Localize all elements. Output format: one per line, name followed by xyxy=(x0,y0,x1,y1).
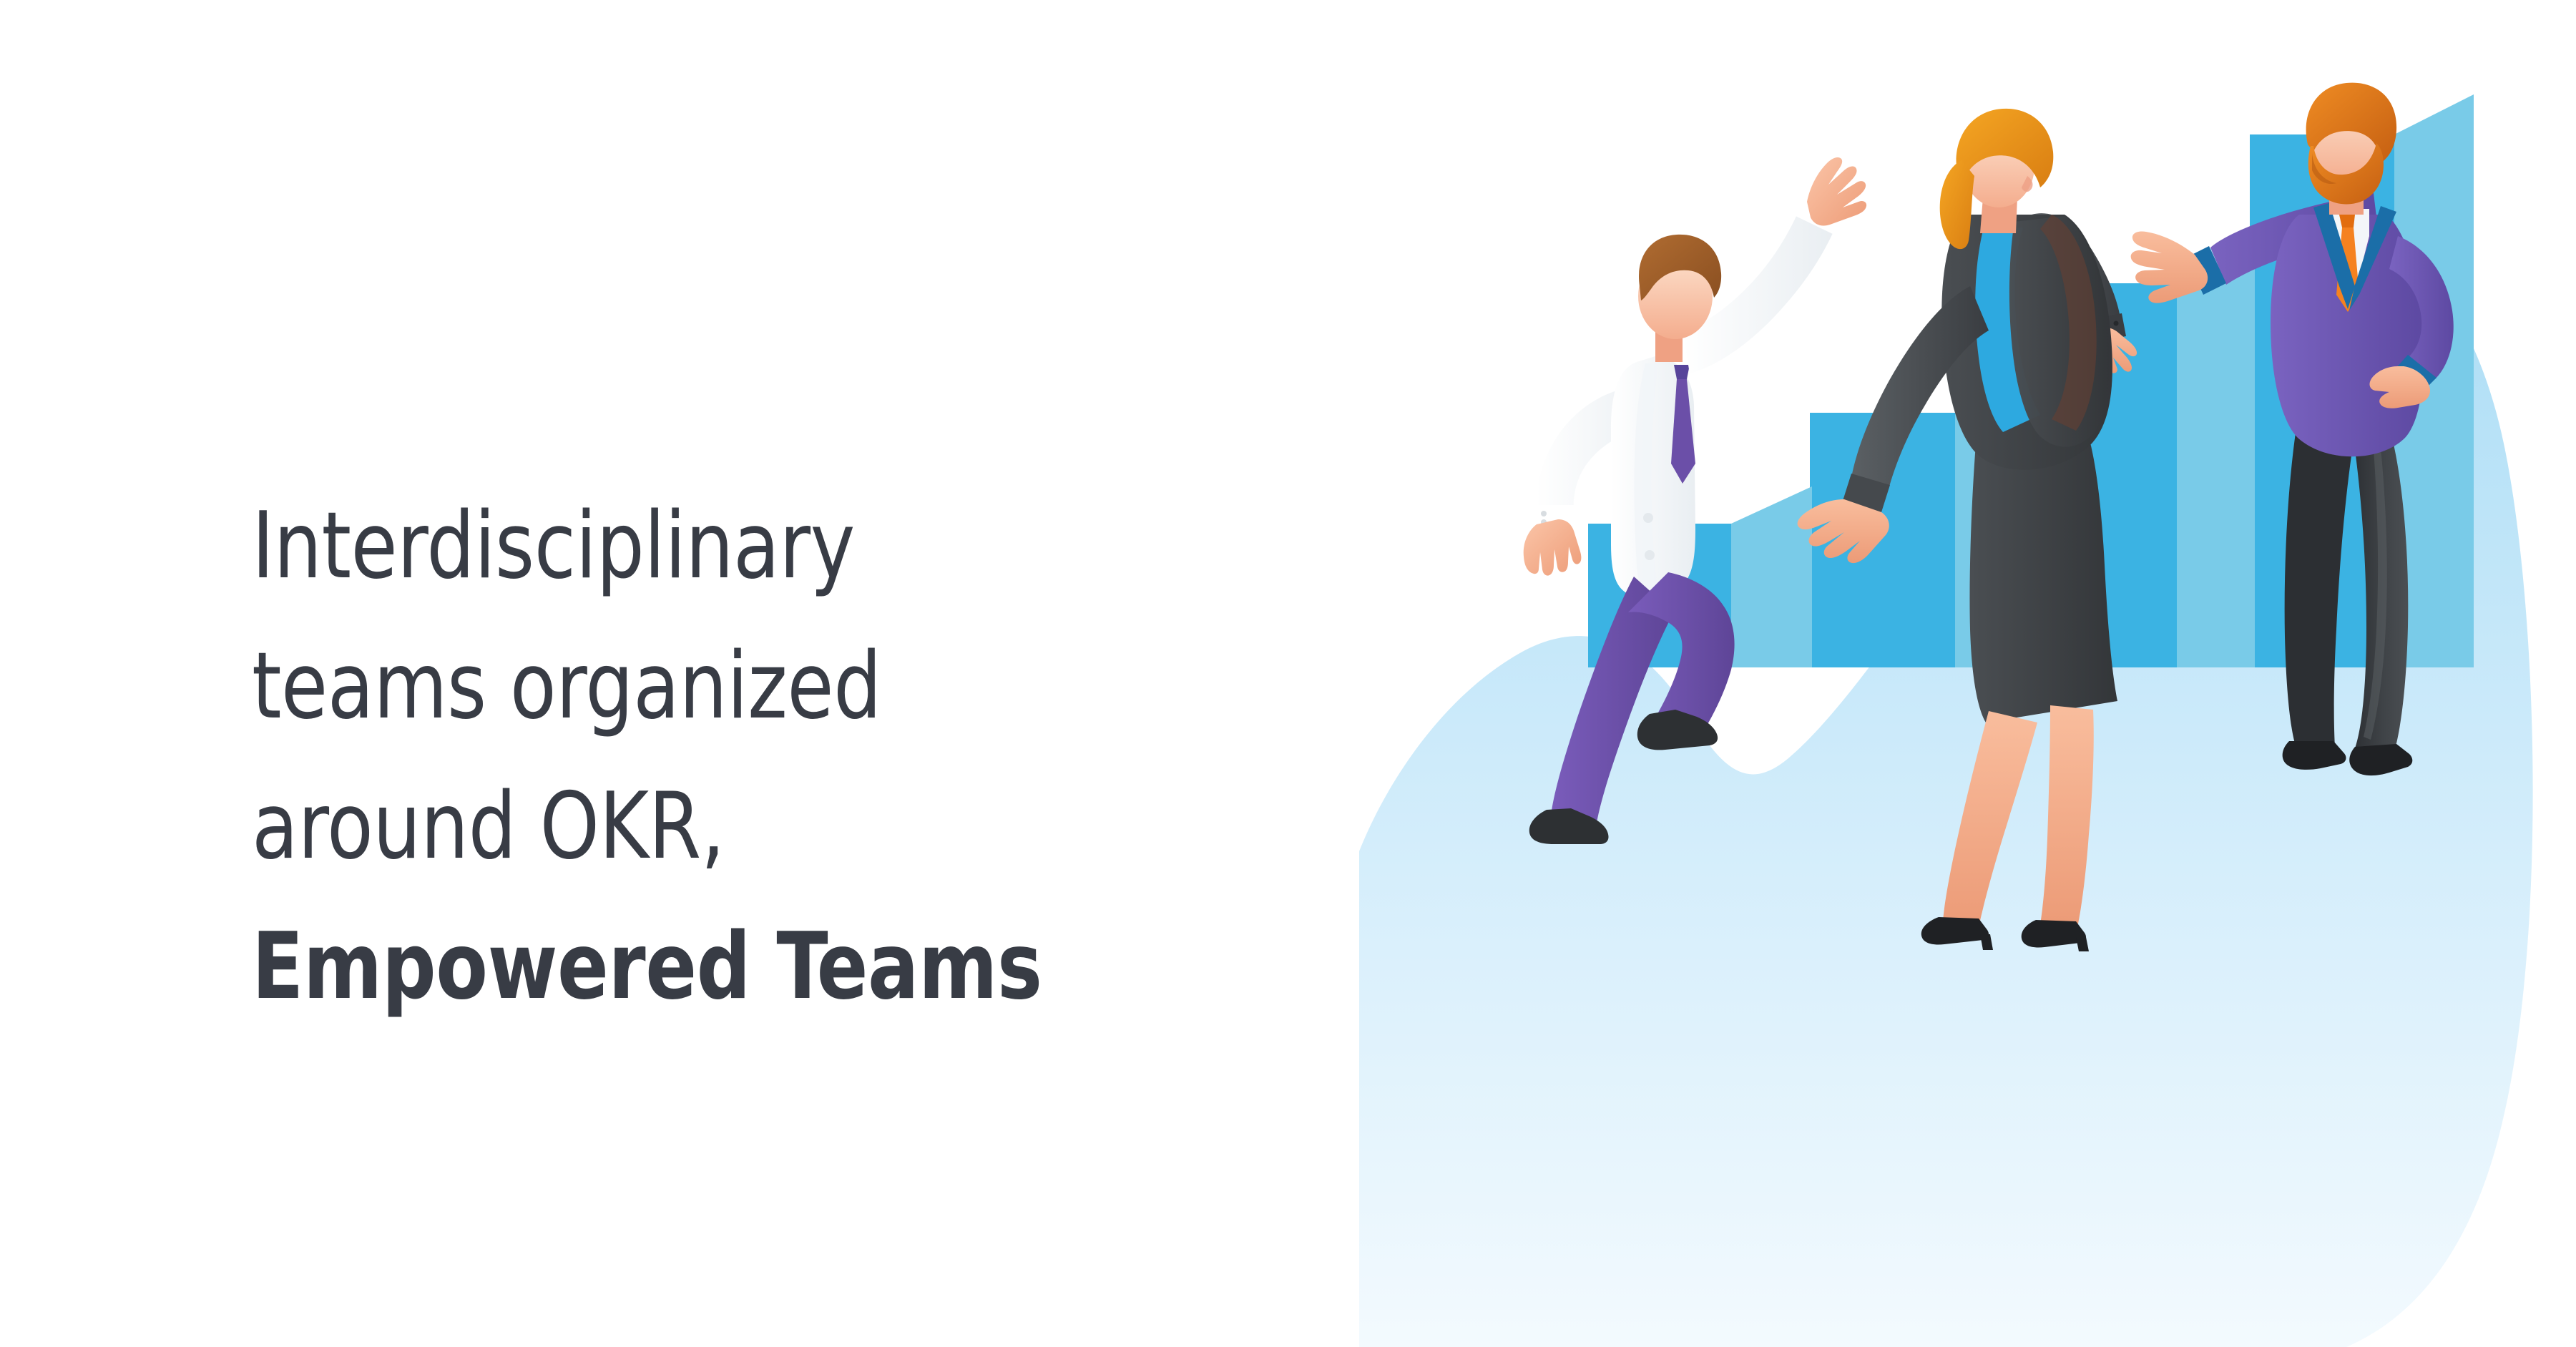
team-climbing-bar-chart-illustration xyxy=(1359,0,2576,1347)
headline-line-2: teams organized xyxy=(252,641,1371,733)
woman-skirt xyxy=(1969,432,2117,723)
page-title: Interdisciplinary teams organized around… xyxy=(252,501,1468,1013)
headline-line-1: Interdisciplinary xyxy=(252,501,1371,592)
headline-line-4-emphasis: Empowered Teams xyxy=(252,921,1371,1013)
headline-line-3: around OKR, xyxy=(252,781,1371,873)
slide-root: Interdisciplinary teams organized around… xyxy=(0,0,2576,1347)
